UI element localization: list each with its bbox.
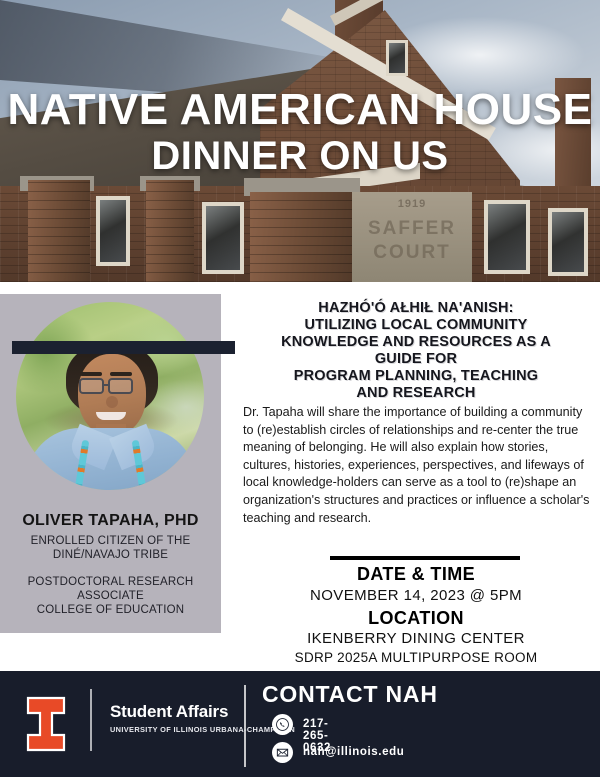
window-4: [548, 208, 588, 276]
hero-photo-native-american-house: 1919 SAFFER COURT NATIVE AMERICAN HOUSE …: [0, 0, 600, 282]
pillar-texture-3: [250, 192, 354, 282]
talk-description: Dr. Tapaha will share the importance of …: [243, 404, 595, 527]
portrait-nose: [106, 396, 118, 408]
window-glass-2: [206, 206, 240, 270]
student-affairs-name: Student Affairs: [110, 702, 228, 722]
speaker-role-title: POSTDOCTORAL RESEARCH ASSOCIATE COLLEGE …: [8, 575, 213, 617]
portrait-eyeglass-left: [79, 378, 104, 394]
pillar-texture-2: [146, 180, 194, 282]
contact-heading: CONTACT NAH: [262, 681, 438, 708]
speaker-tribe-affiliation: ENROLLED CITIZEN OF THE DINÉ/NAVAJO TRIB…: [8, 534, 213, 562]
porch-pillar-2: [146, 180, 194, 282]
datetime-value: NOVEMBER 14, 2023 @ 5PM: [236, 587, 596, 604]
poster-main-title: NATIVE AMERICAN HOUSE DINNER ON US: [0, 86, 600, 178]
portrait-eyeglass-right: [108, 378, 133, 394]
section-divider-rule: [330, 556, 520, 560]
window-3: [484, 200, 530, 274]
engraved-building-sign: 1919 SAFFER COURT: [352, 192, 472, 282]
portrait-eyeglass-bridge: [104, 384, 110, 386]
university-name: UNIVERSITY OF ILLINOIS URBANA-CHAMPAIGN: [110, 725, 295, 734]
gable-window-glass: [389, 43, 405, 73]
block-i-icon: [25, 696, 67, 752]
speaker-name: OLIVER TAPAHA, PHD: [0, 512, 221, 530]
speaker-portrait: [16, 302, 204, 490]
window-glass-1: [100, 200, 126, 262]
portrait-eyebrow-left: [80, 372, 102, 376]
envelope-glyph: [276, 746, 289, 759]
datetime-label: DATE & TIME: [236, 564, 596, 585]
porch-pillar-3: [250, 192, 354, 282]
window-glass-3: [488, 204, 526, 270]
phone-icon: [272, 714, 293, 735]
title-line-2: DINNER ON US: [0, 134, 600, 178]
building-name-engraving: SAFFER COURT: [352, 217, 472, 265]
window-1: [96, 196, 130, 266]
pillar-texture-1: [28, 180, 90, 282]
building-year-engraving: 1919: [352, 198, 472, 210]
window-glass-4: [552, 212, 584, 272]
portrait-eyebrow-right: [110, 372, 132, 376]
gable-window: [386, 40, 408, 76]
illinois-block-i-logo: [25, 696, 67, 752]
porch-pillar-1: [28, 180, 90, 282]
email-address: nah@illinois.edu: [303, 746, 404, 758]
talk-title: HAZHÓ'Ó AŁHIŁ NA'ANISH: UTILIZING LOCAL …: [236, 300, 596, 402]
phone-glyph: [276, 718, 289, 731]
location-line-2: SDRP 2025A MULTIPURPOSE ROOM: [236, 650, 596, 665]
portrait-smile: [96, 412, 126, 420]
window-2: [202, 202, 244, 274]
panel-accent-bar: [12, 341, 235, 354]
location-line-1: IKENBERRY DINING CENTER: [236, 630, 596, 647]
title-line-1: NATIVE AMERICAN HOUSE: [0, 86, 600, 134]
logo-divider: [90, 689, 92, 751]
envelope-icon: [272, 742, 293, 763]
location-label: LOCATION: [236, 608, 596, 629]
